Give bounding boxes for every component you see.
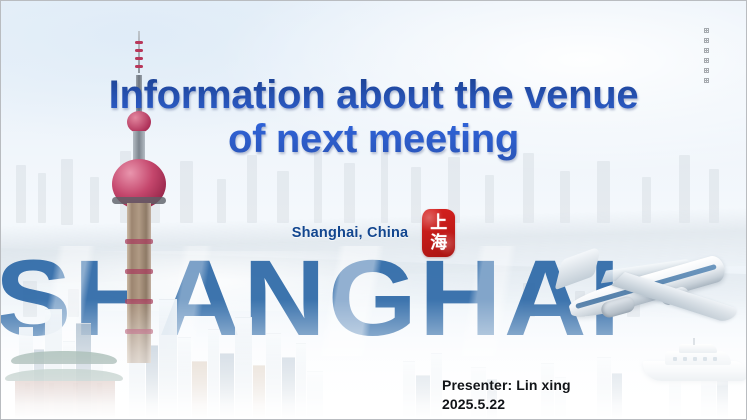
title-line-2: of next meeting <box>1 117 746 161</box>
dot-icon <box>704 78 709 83</box>
presentation-slide: SHANGHAI <box>0 0 747 420</box>
dot-icon <box>704 48 709 53</box>
corner-dots-decoration <box>704 28 709 83</box>
airplane-icon <box>553 249 738 331</box>
chinese-pavilion <box>5 341 123 419</box>
presenter-block: Presenter: Lin xing 2025.5.22 <box>442 376 571 414</box>
seal-char-shang: 上 <box>430 213 447 233</box>
dot-icon <box>704 28 709 33</box>
yacht-icon <box>643 339 747 391</box>
dot-icon <box>704 58 709 63</box>
subtitle-row: Shanghai, China 上 海 <box>1 209 746 257</box>
dot-icon <box>704 68 709 73</box>
presenter-name: Presenter: Lin xing <box>442 376 571 395</box>
presentation-date: 2025.5.22 <box>442 395 571 414</box>
shanghai-seal-stamp: 上 海 <box>422 209 455 257</box>
page-title: Information about the venue of next meet… <box>1 73 746 161</box>
seal-char-hai: 海 <box>430 233 447 253</box>
location-subtitle: Shanghai, China <box>292 225 409 241</box>
dot-icon <box>704 38 709 43</box>
title-line-1: Information about the venue <box>109 73 639 117</box>
